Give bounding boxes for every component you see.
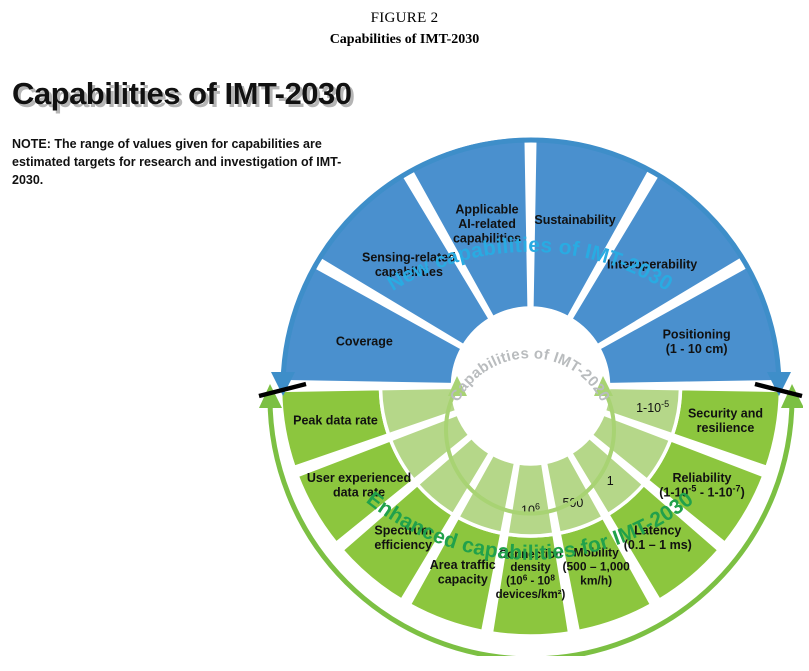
figure-title: Capabilities of IMT-2030 <box>0 32 809 48</box>
segment-label: Security andresilience <box>688 406 763 435</box>
figure-number: FIGURE 2 <box>0 10 809 27</box>
arc-label-center: Capabilities of IMT-2020 <box>447 345 613 404</box>
segment-label: Positioning(1 - 10 cm) <box>663 327 731 356</box>
segment-label: Peak data rate <box>293 414 378 428</box>
capabilities-wheel: CoverageSensing-relatedcapabilitiesAppli… <box>258 96 803 656</box>
inner-segment-value: 1 <box>607 474 614 488</box>
segment-label: Coverage <box>336 335 393 349</box>
segment-label: Area trafficcapacity <box>430 558 496 587</box>
figure-caption: FIGURE 2 Capabilities of IMT-2030 <box>0 10 809 48</box>
segment-label: Sustainability <box>534 213 615 227</box>
